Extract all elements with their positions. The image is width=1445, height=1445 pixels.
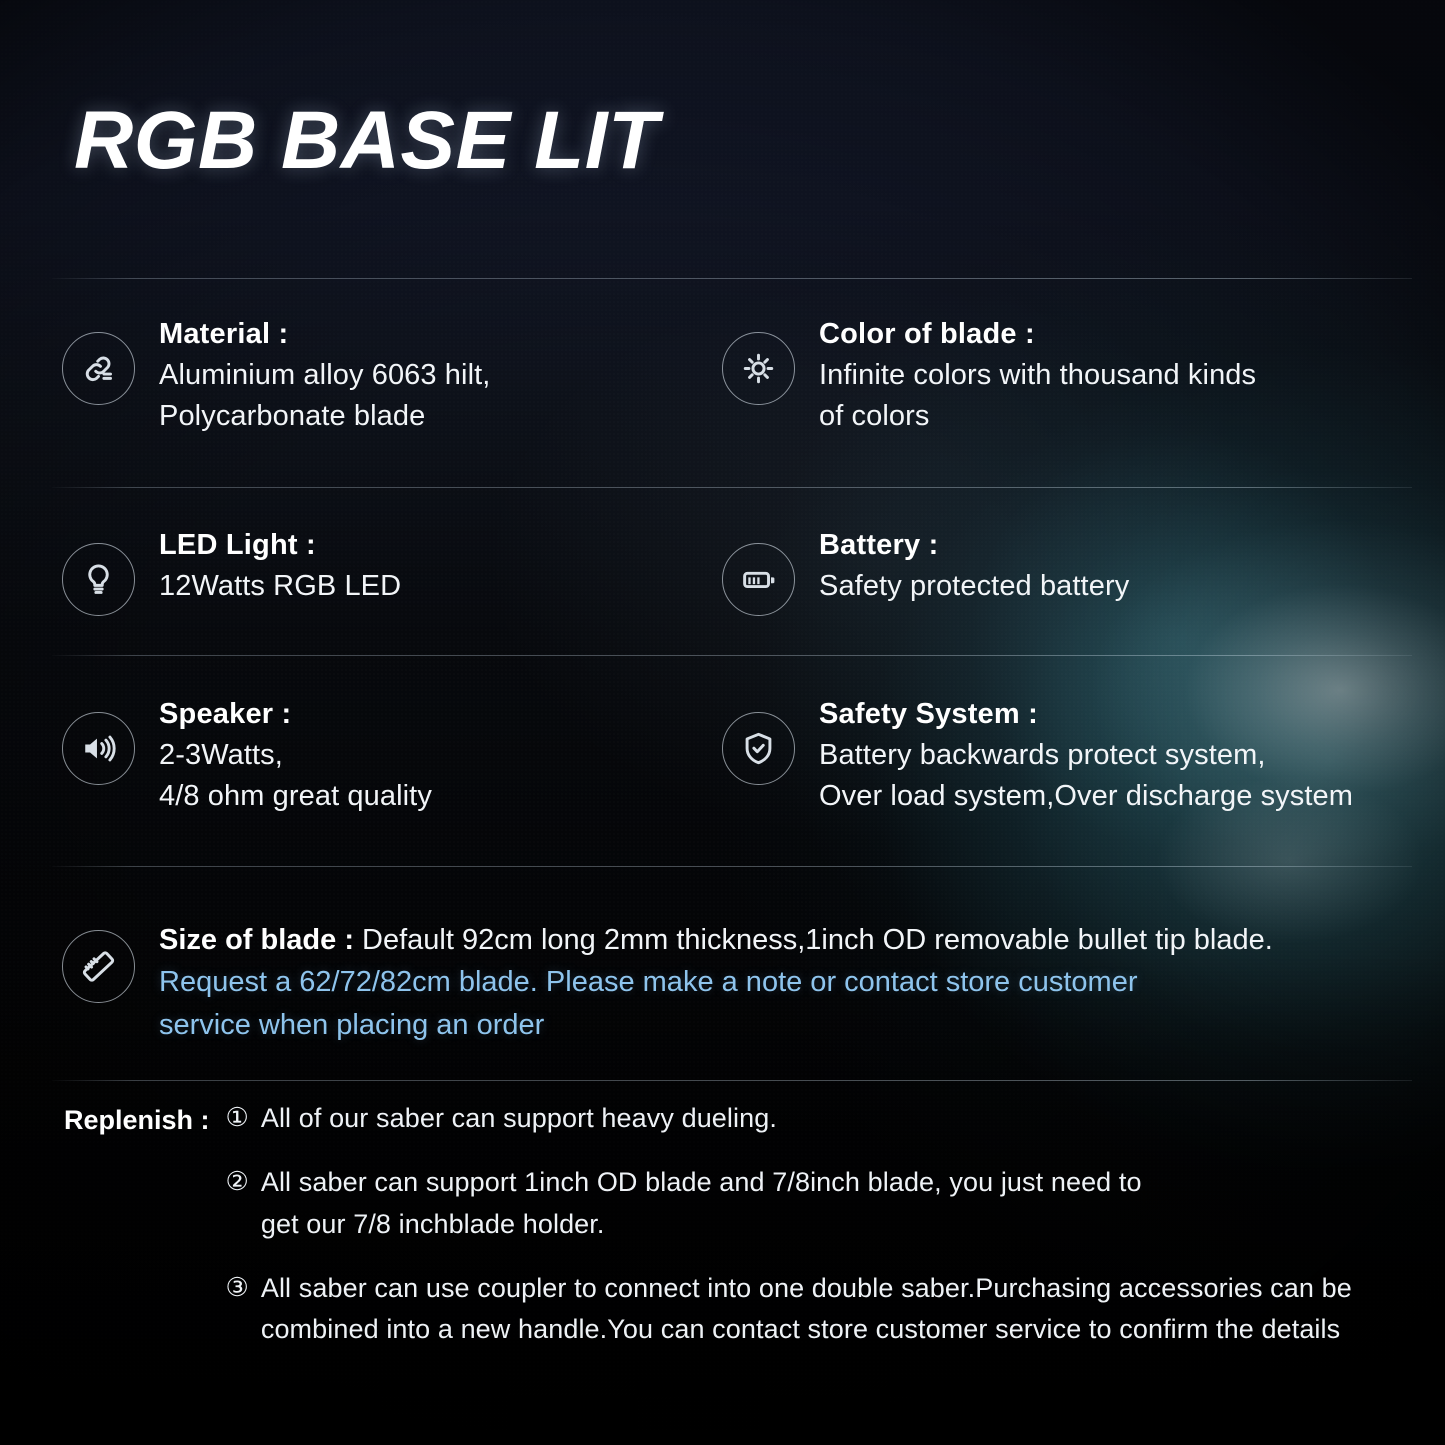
list-item: ① All of our saber can support heavy due…	[226, 1098, 1352, 1140]
spec-value: Infinite colors with thousand kinds of c…	[819, 355, 1256, 436]
list-item: ② All saber can support 1inch OD blade a…	[226, 1162, 1352, 1246]
spec-item-led-light: LED Light : 12Watts RGB LED	[62, 521, 401, 616]
spec-label: Material :	[159, 318, 288, 350]
speaker-volume-icon	[62, 712, 135, 785]
spec-item-battery: Battery : Safety protected battery	[722, 521, 1129, 616]
lightbulb-icon	[62, 543, 135, 616]
size-of-blade-note: Request a 62/72/82cm blade. Please make …	[159, 961, 1273, 1047]
replenish-section: Replenish : ① All of our saber can suppo…	[64, 1098, 1352, 1351]
spec-value: 2-3Watts, 4/8 ohm great quality	[159, 735, 432, 816]
shield-check-icon	[722, 712, 795, 785]
replenish-list: ① All of our saber can support heavy due…	[226, 1098, 1352, 1351]
list-item-number: ③	[226, 1268, 249, 1306]
spec-item-material: Material : Aluminium alloy 6063 hilt, Po…	[62, 310, 490, 436]
list-item-number: ②	[226, 1162, 249, 1200]
divider-row-3	[52, 866, 1412, 867]
spec-value: 12Watts RGB LED	[159, 566, 401, 607]
spec-label: LED Light :	[159, 529, 316, 561]
spec-value: Battery backwards protect system, Over l…	[819, 735, 1353, 816]
list-item-text: All saber can use coupler to connect int…	[261, 1268, 1352, 1352]
spec-label: Battery :	[819, 529, 938, 561]
list-item-text: All saber can support 1inch OD blade and…	[261, 1162, 1142, 1246]
page-title: RGB BASE LIT	[74, 100, 659, 182]
replenish-label: Replenish :	[64, 1098, 210, 1141]
spec-item-speaker: Speaker : 2-3Watts, 4/8 ohm great qualit…	[62, 690, 432, 816]
divider-top	[52, 278, 1412, 279]
spec-label: Color of blade :	[819, 318, 1035, 350]
list-item-number: ①	[226, 1098, 249, 1136]
chain-link-icon	[62, 332, 135, 405]
size-of-blade-value: Default 92cm long 2mm thickness,1inch OD…	[362, 924, 1273, 956]
spec-item-safety-system: Safety System : Battery backwards protec…	[722, 690, 1353, 816]
spec-item-color-of-blade: Color of blade : Infinite colors with th…	[722, 310, 1256, 436]
product-spec-banner: RGB BASE LIT Material : Aluminium alloy …	[0, 0, 1445, 1445]
size-of-blade-line: Size of blade : Default 92cm long 2mm th…	[159, 920, 1273, 961]
list-item-text: All of our saber can support heavy dueli…	[261, 1098, 777, 1140]
divider-row-4	[52, 1080, 1412, 1081]
list-item: ③ All saber can use coupler to connect i…	[226, 1268, 1352, 1352]
size-of-blade-label: Size of blade :	[159, 924, 354, 956]
brightness-sun-icon	[722, 332, 795, 405]
spec-value: Safety protected battery	[819, 566, 1129, 607]
divider-row-1	[52, 487, 1412, 488]
spec-label: Speaker :	[159, 698, 291, 730]
spec-label: Safety System :	[819, 698, 1038, 730]
spec-item-size-of-blade: Size of blade : Default 92cm long 2mm th…	[62, 920, 1273, 1047]
divider-row-2	[52, 655, 1412, 656]
battery-icon	[722, 543, 795, 616]
spec-value: Aluminium alloy 6063 hilt, Polycarbonate…	[159, 355, 490, 436]
ruler-icon	[62, 930, 135, 1003]
